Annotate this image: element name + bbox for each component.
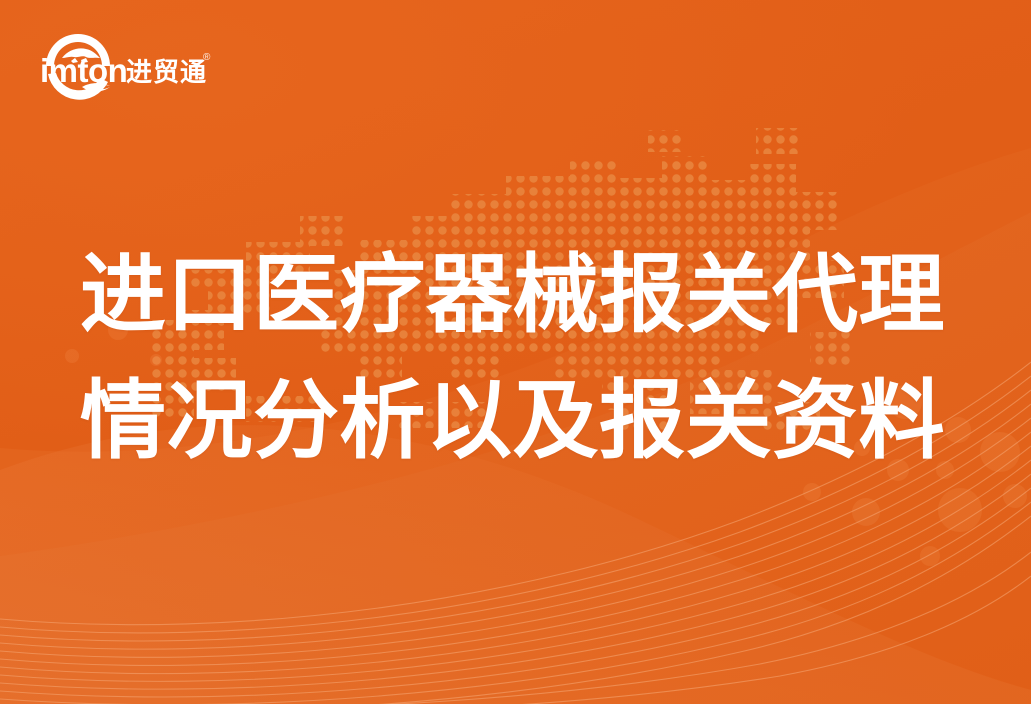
logo-latin-text: imton <box>40 52 127 89</box>
logo-chinese-text: 进贸通 <box>126 57 207 87</box>
headline-block: 进口医疗器械报关代理 情况分析以及报关资料 <box>80 232 970 484</box>
promo-banner: imton 进贸通 ® 进口医疗器械报关代理 情况分析以及报关资料 <box>0 0 1031 704</box>
headline-line-1: 进口医疗器械报关代理 <box>80 232 970 358</box>
registered-trademark-icon: ® <box>203 52 211 63</box>
brand-logo[interactable]: imton 进贸通 ® <box>38 24 218 106</box>
headline-line-2: 情况分析以及报关资料 <box>80 358 970 484</box>
